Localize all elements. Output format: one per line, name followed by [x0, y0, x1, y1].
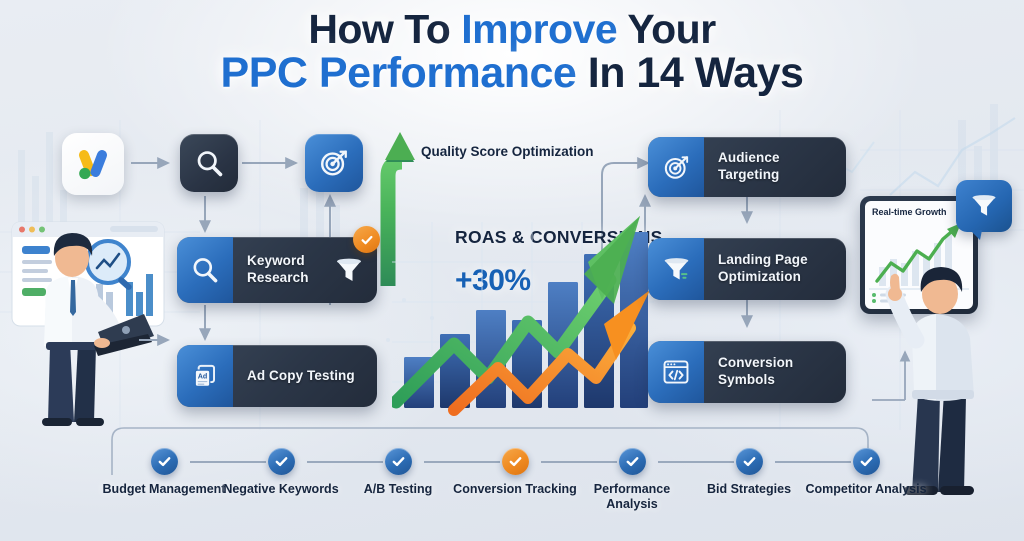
checklist-row: Budget Management Negative Keywords A/B …: [0, 448, 1024, 541]
svg-text:Ad: Ad: [197, 372, 207, 380]
card-audience-targeting[interactable]: Audience Targeting: [648, 137, 846, 197]
card-icon-tile: [177, 237, 233, 303]
check-badge: [385, 448, 412, 475]
title-line-2: PPC Performance In 14 Ways: [0, 51, 1024, 97]
check-badge: [151, 448, 178, 475]
checklist-item-conversion-tracking[interactable]: Conversion Tracking: [451, 448, 579, 497]
checklist-item-ab-testing[interactable]: A/B Testing: [334, 448, 462, 497]
card-icon-tile: [648, 341, 704, 403]
check-icon: [157, 454, 172, 469]
check-icon: [274, 454, 289, 469]
checklist-item-bid-strategies[interactable]: Bid Strategies: [685, 448, 813, 497]
checklist-label: Conversion Tracking: [451, 482, 579, 497]
check-icon: [391, 454, 406, 469]
check-badge: [502, 448, 529, 475]
check-badge: [619, 448, 646, 475]
title-part: In 14 Ways: [576, 49, 803, 97]
checklist-label: Competitor Analysis: [802, 482, 930, 497]
checklist-item-negative-keywords[interactable]: Negative Keywords: [217, 448, 345, 497]
funnel-icon: [970, 192, 998, 220]
card-label: Audience Targeting: [704, 150, 846, 183]
card-label: Keyword Research: [233, 253, 334, 286]
card-icon-tile: Ad: [177, 345, 233, 407]
search-icon-tile[interactable]: [180, 134, 238, 192]
card-conversion-symbols[interactable]: Conversion Symbols: [648, 341, 846, 403]
check-badge: [736, 448, 763, 475]
checklist-label: Bid Strategies: [685, 482, 813, 497]
checklist-item-budget-management[interactable]: Budget Management: [100, 448, 228, 497]
google-ads-logo-icon: [73, 144, 113, 184]
title-part-accent: PPC Performance: [221, 49, 577, 97]
quality-score-label-text: Quality Score Optimization: [421, 144, 594, 160]
check-icon: [508, 454, 523, 469]
checklist-item-competitor-analysis[interactable]: Competitor Analysis: [802, 448, 930, 497]
analyst-with-laptop-illustration: [2, 196, 178, 432]
page-title: How To Improve Your PPC Performance In 1…: [0, 8, 1024, 97]
card-label: Conversion Symbols: [704, 355, 846, 388]
title-part: Your: [617, 6, 716, 52]
infographic-canvas: How To Improve Your PPC Performance In 1…: [0, 0, 1024, 541]
card-keyword-research[interactable]: Keyword Research: [177, 237, 377, 303]
check-icon: [859, 454, 874, 469]
checklist-label: A/B Testing: [334, 482, 462, 497]
check-badge: [853, 448, 880, 475]
google-ads-logo[interactable]: [62, 133, 124, 195]
funnel-icon: [662, 255, 691, 284]
magnifier-icon: [190, 255, 220, 285]
ad-document-icon: Ad: [191, 362, 220, 391]
funnel-icon: [334, 255, 364, 285]
card-ad-copy-testing[interactable]: Ad Ad Copy Testing: [177, 345, 377, 407]
card-landing-page-optimization[interactable]: Landing Page Optimization: [648, 238, 846, 300]
code-window-icon: [661, 357, 691, 387]
card-label: Ad Copy Testing: [233, 368, 365, 385]
checklist-label: Performance Analysis: [568, 482, 696, 513]
funnel-badge-bubble[interactable]: [956, 180, 1012, 232]
card-icon-tile: [648, 238, 704, 300]
magnifier-icon: [194, 148, 225, 179]
check-icon: [625, 454, 640, 469]
quality-score-target-tile[interactable]: [305, 134, 363, 192]
title-part: How To: [308, 6, 461, 52]
target-icon: [662, 153, 691, 182]
growth-bar-chart: [392, 202, 654, 420]
title-part-accent: Improve: [461, 6, 617, 52]
card-label: Landing Page Optimization: [704, 252, 846, 285]
check-badge: [268, 448, 295, 475]
quality-score-label: Quality Score Optimization: [421, 144, 594, 160]
checklist-label: Negative Keywords: [217, 482, 345, 497]
card-icon-tile: [648, 137, 704, 197]
device-title: Real-time Growth: [872, 207, 947, 218]
checklist-label: Budget Management: [100, 482, 228, 497]
checklist-item-performance-analysis[interactable]: Performance Analysis: [568, 448, 696, 513]
target-icon: [318, 147, 350, 179]
check-icon: [742, 454, 757, 469]
title-line-1: How To Improve Your: [0, 8, 1024, 51]
